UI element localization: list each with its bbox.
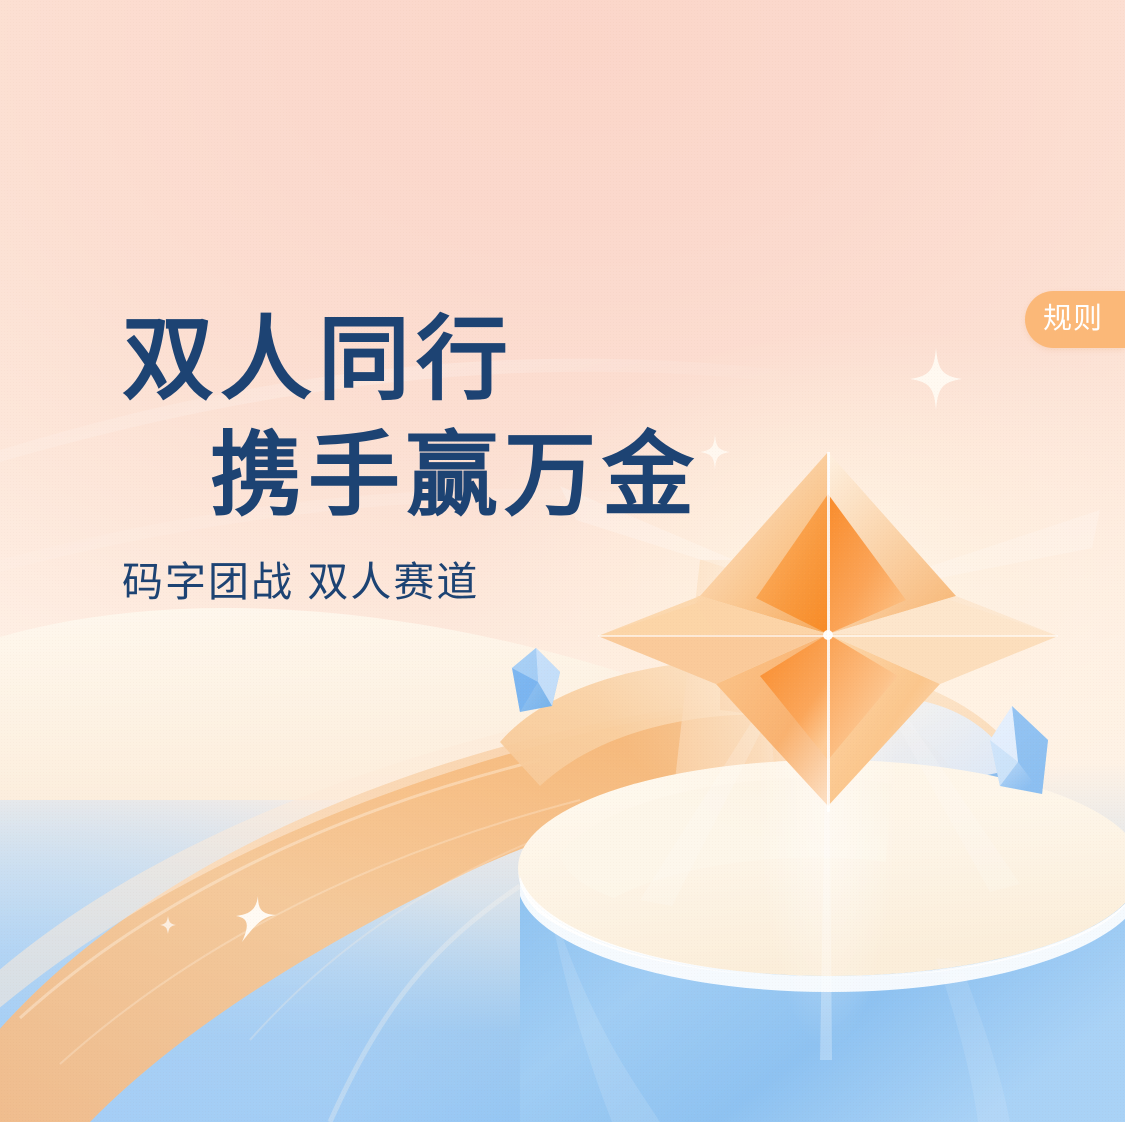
gem-petal-left-outer: [696, 596, 828, 634]
sparkle-small-icon: [700, 434, 730, 470]
gem-wing-right-lower: [828, 634, 1058, 684]
orange-ribbon-back-inner: [720, 683, 980, 862]
podium-shading: [552, 920, 1010, 1122]
headline-line-2: 携手赢万金: [210, 428, 700, 526]
warm-light-pillar-2: [760, 560, 880, 1000]
cream-swoosh-band: [0, 608, 760, 800]
gem-petal-bottom-left: [716, 634, 828, 806]
gem-wing-left: [598, 596, 828, 684]
gem-center-spark: [823, 630, 833, 640]
ribbon-highlight-lines: [20, 760, 580, 1122]
page-subtitle: 码字团战 双人赛道: [122, 548, 479, 608]
warm-light-pillar: [650, 560, 790, 1000]
sparkle-bottom-left-icon: [236, 896, 276, 942]
gem-glow-column: [758, 530, 898, 1050]
gem-core-bottom-right: [828, 634, 898, 760]
orange-ribbon-back-arc: [500, 659, 1046, 838]
headline-line-1: 双人同行: [122, 312, 514, 410]
gem-petal-left: [696, 596, 828, 634]
crystal-left: [512, 648, 560, 712]
podium-top-surface: [518, 760, 1125, 976]
sparkle-large-icon: [910, 348, 962, 410]
podium-body: [520, 840, 1125, 1122]
gem-petal-top-left: [700, 452, 828, 634]
podium-rim: [518, 868, 1125, 978]
gem-petal-top-right: [828, 452, 956, 634]
gem-center-highlight-h: [598, 635, 1058, 637]
rules-button[interactable]: 规则: [1025, 291, 1125, 348]
gem-light-rays: [560, 486, 1100, 1060]
gem-core-bottom-left: [760, 634, 828, 760]
orange-ribbon-main: [0, 698, 900, 1122]
blue-sheet-back: [845, 697, 1036, 912]
gem-wing-left-upper: [598, 596, 828, 636]
podium-front-rim-highlight: [520, 876, 1125, 992]
blue-band-right-shadow: [866, 880, 1038, 942]
podium-inner-well: [560, 778, 892, 898]
rules-button-label: 规则: [1043, 305, 1107, 334]
gem-wing-right-upper: [828, 596, 1058, 636]
promo-banner: 双人同行 携手赢万金 码字团战 双人赛道 规则: [0, 0, 1125, 1122]
gem-core-top-right: [828, 494, 906, 634]
gem-petal-bottom-right: [828, 634, 940, 806]
gem-center-highlight: [827, 452, 830, 812]
blue-band-right: [848, 764, 1040, 942]
sparkle-tiny-icon: [160, 916, 176, 934]
orange-ribbon-upper-fold: [0, 683, 902, 1016]
crystal-right: [990, 706, 1048, 794]
gem-wing-left-lower: [598, 634, 828, 684]
gem-wing-right: [828, 596, 1058, 684]
gem-core-top-left: [756, 494, 828, 634]
